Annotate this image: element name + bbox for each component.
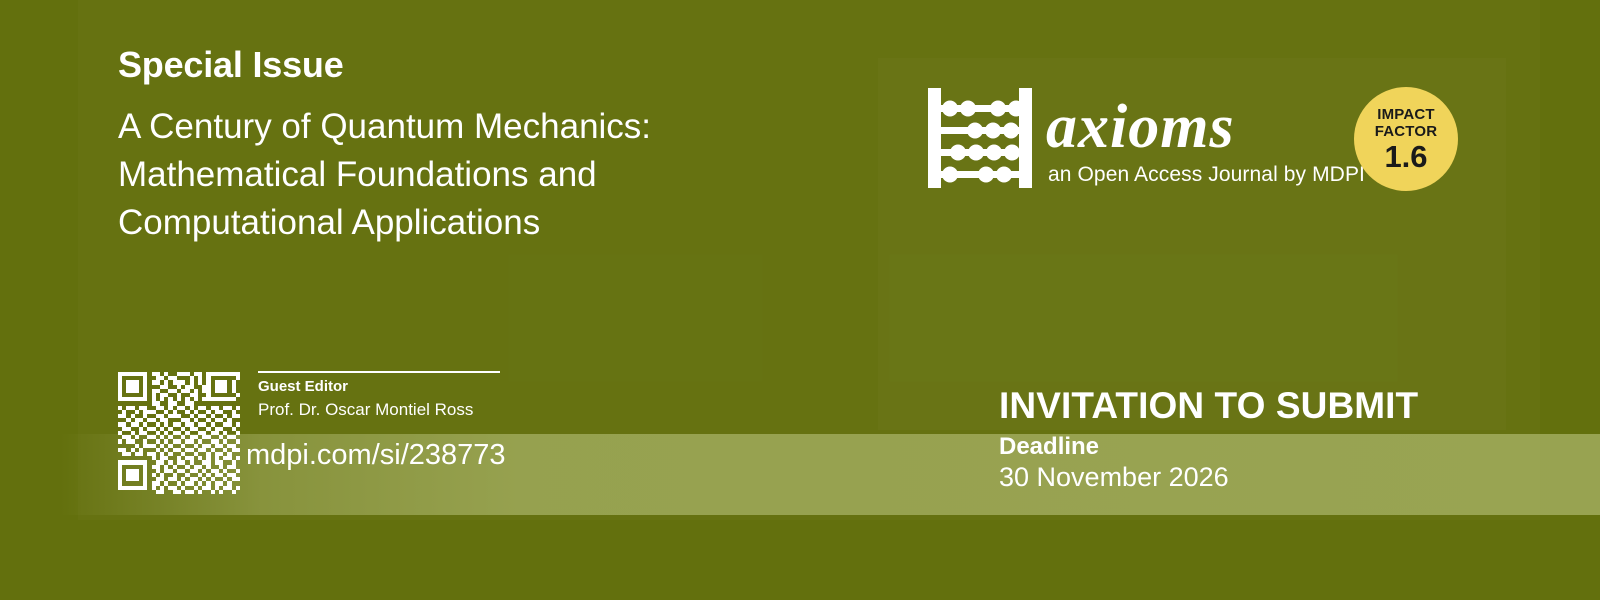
special-issue-url[interactable]: mdpi.com/si/238773: [246, 439, 506, 472]
special-issue-title: A Century of Quantum Mechanics: Mathemat…: [118, 103, 738, 247]
guest-editor-name: Prof. Dr. Oscar Montiel Ross: [258, 400, 473, 420]
special-issue-banner: Special Issue A Century of Quantum Mecha…: [0, 0, 1600, 600]
journal-wordmark: axioms: [1046, 96, 1235, 158]
impact-factor-line2: FACTOR: [1375, 123, 1438, 140]
guest-editor-divider: [258, 371, 500, 373]
qr-code[interactable]: [118, 372, 240, 494]
invitation-heading: INVITATION TO SUBMIT: [999, 385, 1418, 427]
guest-editor-role: Guest Editor: [258, 378, 348, 395]
deadline-label: Deadline: [999, 433, 1099, 461]
abacus-icon: [928, 88, 1032, 188]
highlight-band: [0, 434, 1600, 515]
impact-factor-badge: IMPACT FACTOR 1.6: [1354, 87, 1458, 191]
special-issue-label: Special Issue: [118, 44, 344, 86]
journal-tagline: an Open Access Journal by MDPI: [1048, 163, 1365, 187]
impact-factor-value: 1.6: [1384, 141, 1427, 173]
deadline-date: 30 November 2026: [999, 462, 1229, 493]
impact-factor-line1: IMPACT: [1377, 106, 1435, 123]
